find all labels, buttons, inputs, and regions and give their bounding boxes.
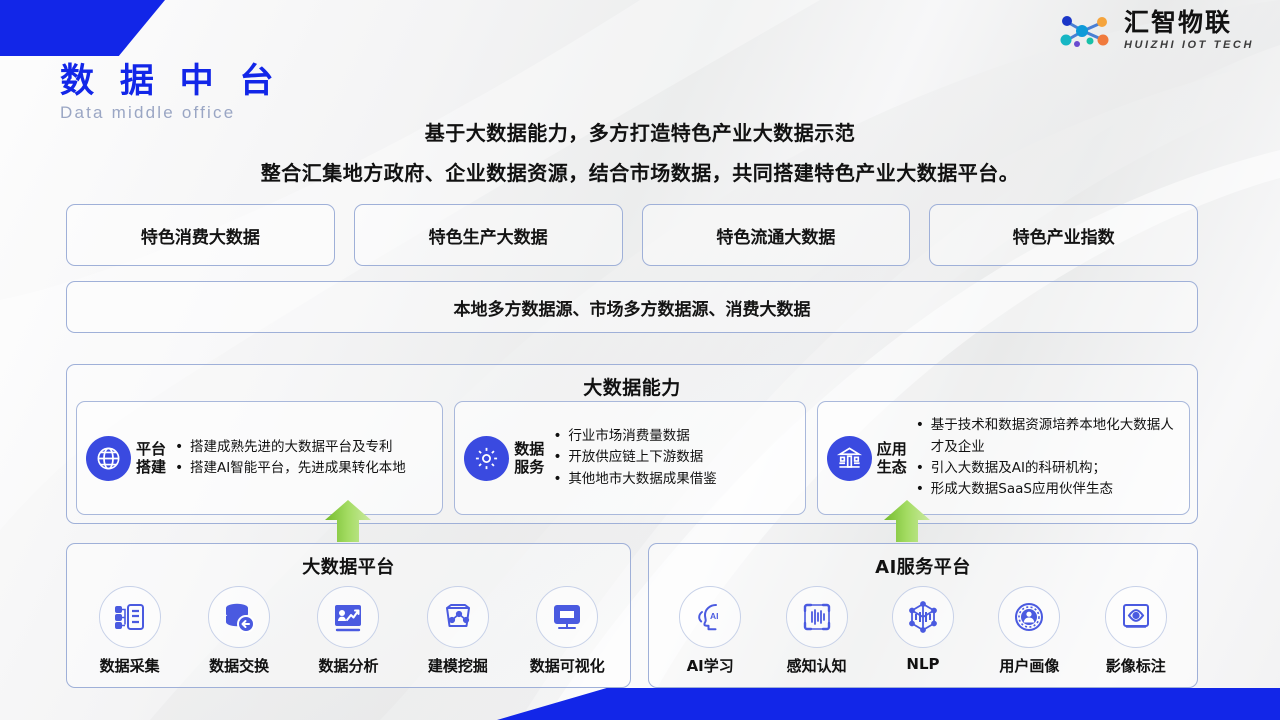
capability-bullets-ecosystem: 基于技术和数据资源培养本地化大数据人才及企业 引入大数据及AI的科研机构； 形成… — [914, 415, 1180, 500]
logo-text-cn: 汇智物联 — [1124, 10, 1254, 35]
page-title-cn: 数 据 中 台 — [60, 62, 281, 101]
globe-icon — [86, 436, 131, 481]
platform-item-user-profile[interactable]: 用户画像 — [979, 586, 1079, 676]
list-item: 搭建成熟先进的大数据平台及专利 — [173, 437, 433, 458]
capability-bullets-platform: 搭建成熟先进的大数据平台及专利 搭建AI智能平台，先进成果转化本地 — [173, 437, 433, 480]
ai-service-platform-panel: AI服务平台 AI AI学习 — [648, 543, 1198, 688]
logo-text-en: HUIZHI IOT TECH — [1124, 40, 1254, 51]
list-item: 形成大数据SaaS应用伙伴生态 — [914, 479, 1180, 500]
brand-logo: 汇智物联 HUIZHI IOT TECH — [1057, 10, 1254, 51]
platform-item-nlp[interactable]: NLP — [873, 586, 973, 676]
platform-item-label: 影像标注 — [1106, 655, 1166, 676]
bigdata-platform-panel: 大数据平台 数据采集 — [66, 543, 631, 688]
capability-bullets-dataservice: 行业市场消费量数据 开放供应链上下游数据 其他地市大数据成果借鉴 — [551, 426, 795, 490]
headline-line-2: 整合汇集地方政府、企业数据资源，结合市场数据，共同搭建特色产业大数据平台。 — [0, 157, 1280, 186]
page-title: 数 据 中 台 Data middle office — [60, 62, 281, 123]
modeling-mining-icon — [427, 586, 489, 648]
data-source-bar[interactable]: 本地多方数据源、市场多方数据源、消费大数据 — [66, 281, 1198, 333]
nlp-network-icon — [892, 586, 954, 648]
capability-panel-title: 大数据能力 — [67, 373, 1197, 400]
svg-text:AI: AI — [710, 611, 719, 621]
platform-item-visualization[interactable]: 数据可视化 — [517, 586, 617, 676]
headline-line-1: 基于大数据能力，多方打造特色产业大数据示范 — [0, 117, 1280, 146]
platform-item-label: 数据分析 — [318, 655, 378, 676]
platform-item-data-exchange[interactable]: 数据交换 — [189, 586, 289, 676]
list-item: 开放供应链上下游数据 — [551, 447, 795, 468]
capability-badge-dataservice: 数据服务 — [464, 436, 544, 481]
list-item: 其他地市大数据成果借鉴 — [551, 469, 795, 490]
pill-production-bigdata[interactable]: 特色生产大数据 — [354, 204, 623, 266]
corner-accent-bottom-right — [497, 688, 1280, 720]
ai-service-platform-title: AI服务平台 — [649, 553, 1197, 579]
list-item: 搭建AI智能平台，先进成果转化本地 — [173, 458, 433, 479]
bigdata-platform-items: 数据采集 数据交换 — [67, 586, 630, 676]
capability-badge-ecosystem: 应用生态 — [827, 436, 907, 481]
pill-circulation-bigdata[interactable]: 特色流通大数据 — [642, 204, 911, 266]
flow-arrow-right — [884, 500, 930, 542]
platform-item-label: 数据交换 — [209, 655, 269, 676]
platform-item-data-collection[interactable]: 数据采集 — [80, 586, 180, 676]
institution-icon — [827, 436, 872, 481]
capability-card-dataservice[interactable]: 数据服务 行业市场消费量数据 开放供应链上下游数据 其他地市大数据成果借鉴 — [454, 401, 805, 515]
analytics-chart-icon — [317, 586, 379, 648]
bigdata-platform-title: 大数据平台 — [67, 553, 630, 579]
pill-industry-index[interactable]: 特色产业指数 — [929, 204, 1198, 266]
data-collection-icon — [99, 586, 161, 648]
platform-item-label: 建模挖掘 — [428, 655, 488, 676]
capability-name-ecosystem: 应用生态 — [877, 440, 907, 477]
gear-icon — [464, 436, 509, 481]
capability-name-platform: 平台搭建 — [136, 440, 166, 477]
flow-arrow-left — [325, 500, 371, 542]
capability-card-row: 平台搭建 搭建成熟先进的大数据平台及专利 搭建AI智能平台，先进成果转化本地 — [76, 401, 1190, 515]
pill-consumption-bigdata[interactable]: 特色消费大数据 — [66, 204, 335, 266]
user-profile-icon — [998, 586, 1060, 648]
category-pill-row: 特色消费大数据 特色生产大数据 特色流通大数据 特色产业指数 — [66, 204, 1198, 266]
platform-item-label: 数据可视化 — [530, 655, 605, 676]
platform-item-label: AI学习 — [687, 655, 734, 676]
ai-head-icon: AI — [679, 586, 741, 648]
list-item: 引入大数据及AI的科研机构； — [914, 458, 1180, 479]
platform-item-label: 感知认知 — [787, 655, 847, 676]
image-annotation-icon — [1105, 586, 1167, 648]
slide-canvas: 汇智物联 HUIZHI IOT TECH 数 据 中 台 Data middle… — [0, 0, 1280, 720]
platform-item-image-annotation[interactable]: 影像标注 — [1086, 586, 1186, 676]
platform-item-ai-learning[interactable]: AI AI学习 — [660, 586, 760, 676]
capability-card-ecosystem[interactable]: 应用生态 基于技术和数据资源培养本地化大数据人才及企业 引入大数据及AI的科研机… — [817, 401, 1190, 515]
platform-item-label: 数据采集 — [100, 655, 160, 676]
list-item: 行业市场消费量数据 — [551, 426, 795, 447]
platform-item-perception[interactable]: 感知认知 — [767, 586, 867, 676]
capability-card-platform[interactable]: 平台搭建 搭建成熟先进的大数据平台及专利 搭建AI智能平台，先进成果转化本地 — [76, 401, 443, 515]
database-exchange-icon — [208, 586, 270, 648]
molecule-network-icon — [1057, 11, 1115, 51]
platform-item-modeling-mining[interactable]: 建模挖掘 — [408, 586, 508, 676]
capability-badge-platform: 平台搭建 — [86, 436, 166, 481]
ai-service-platform-items: AI AI学习 感知认知 — [649, 586, 1197, 676]
capability-name-dataservice: 数据服务 — [514, 440, 544, 477]
monitor-visualization-icon — [536, 586, 598, 648]
bigdata-capability-panel: 大数据能力 平台搭建 搭建成熟先 — [66, 364, 1198, 524]
scan-perception-icon — [786, 586, 848, 648]
platform-item-label: 用户画像 — [999, 655, 1059, 676]
platform-item-label: NLP — [906, 655, 939, 673]
list-item: 基于技术和数据资源培养本地化大数据人才及企业 — [914, 415, 1180, 458]
platform-item-data-analysis[interactable]: 数据分析 — [298, 586, 398, 676]
